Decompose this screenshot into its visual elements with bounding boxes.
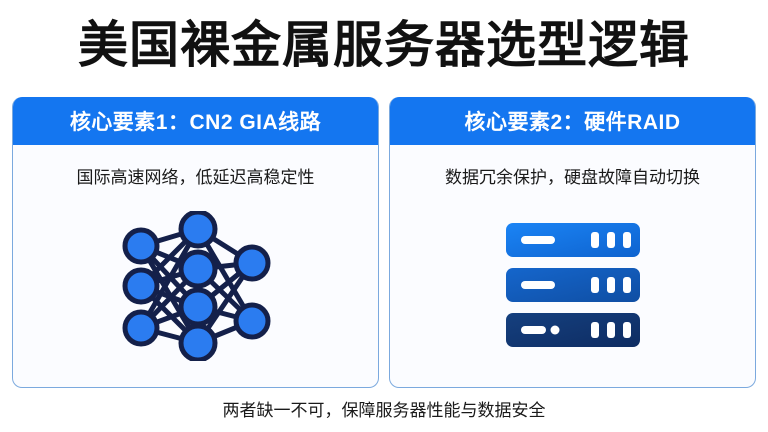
card-core-element-1: 核心要素1：CN2 GIA线路 国际高速网络，低延迟高稳定性 xyxy=(12,97,379,388)
cards-row: 核心要素1：CN2 GIA线路 国际高速网络，低延迟高稳定性 xyxy=(12,97,756,388)
page-title: 美国裸金属服务器选型逻辑 xyxy=(0,12,768,78)
card-1-illustration xyxy=(13,199,378,387)
card-1-header: 核心要素1：CN2 GIA线路 xyxy=(13,97,378,145)
server-stack-icon xyxy=(498,220,648,352)
card-2-header: 核心要素2：硬件RAID xyxy=(390,97,755,145)
card-2-subtitle: 数据冗余保护，硬盘故障自动切换 xyxy=(390,151,755,199)
slide-canvas: 美国裸金属服务器选型逻辑 核心要素1：CN2 GIA线路 国际高速网络，低延迟高… xyxy=(0,0,768,432)
card-core-element-2: 核心要素2：硬件RAID 数据冗余保护，硬盘故障自动切换 xyxy=(389,97,756,388)
card-2-illustration xyxy=(390,199,755,387)
neural-network-icon xyxy=(116,211,276,361)
footer-note: 两者缺一不可，保障服务器性能与数据安全 xyxy=(0,396,768,421)
card-1-subtitle: 国际高速网络，低延迟高稳定性 xyxy=(13,151,378,199)
